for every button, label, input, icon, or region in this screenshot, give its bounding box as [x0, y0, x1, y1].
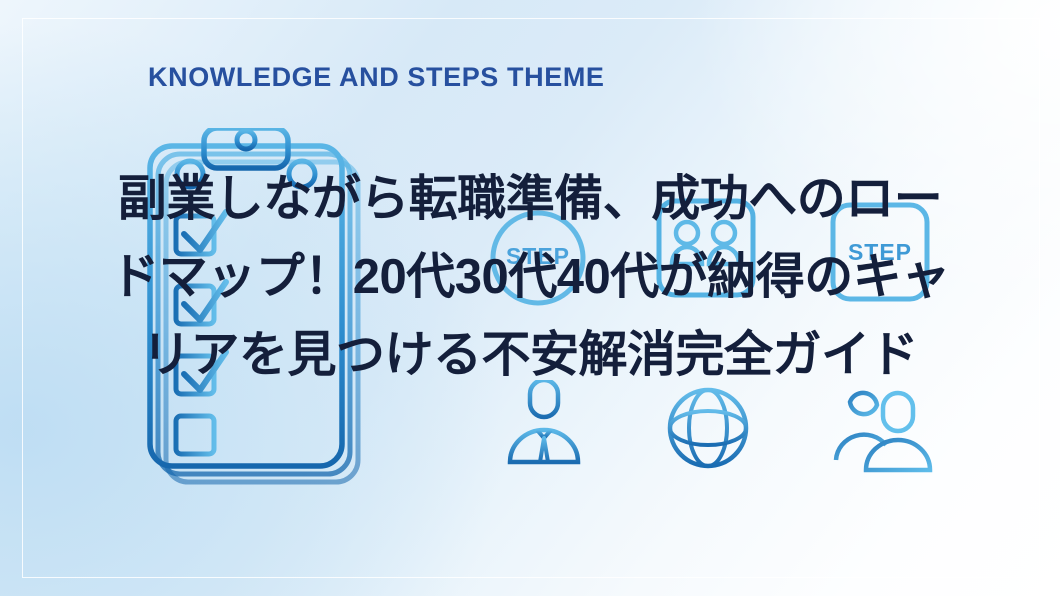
eyecatch-card: STEP STEP [0, 0, 1060, 596]
globe-icon [662, 382, 754, 474]
businessperson-icon [496, 380, 592, 476]
page-title: 副業しながら転職準備、成功へのロー ドマップ！20代30代40代が納得のキャ リ… [50, 160, 1010, 394]
title-line-3: リアを見つける不安解消完全ガイド [50, 316, 1010, 394]
title-line-1: 副業しながら転職準備、成功へのロー [50, 160, 1010, 238]
kicker-heading: KNOWLEDGE AND STEPS THEME [148, 62, 605, 93]
title-line-2: ドマップ！20代30代40代が納得のキャ [50, 238, 1010, 316]
two-people-icon [830, 382, 934, 478]
